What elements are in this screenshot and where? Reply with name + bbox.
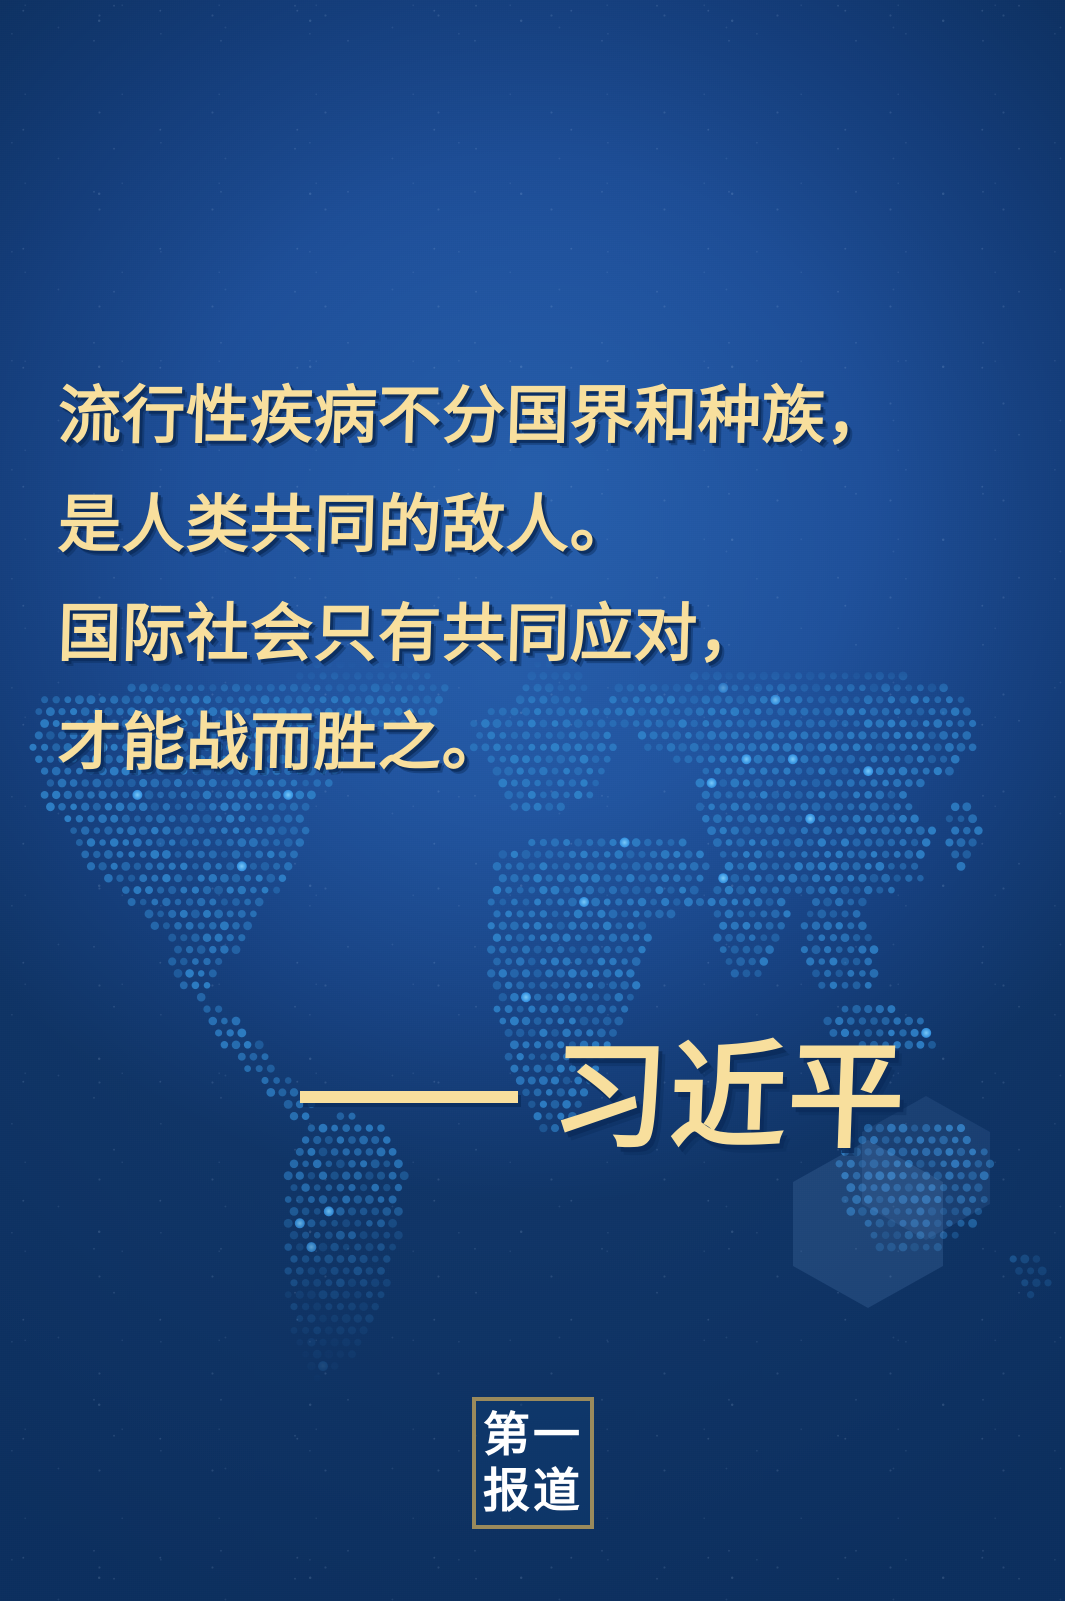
attribution-block: 习近平: [300, 1032, 1000, 1162]
quote-line-1: 流行性疾病不分国界和种族，: [57, 362, 1020, 471]
brand-logo-line-1: 第一: [483, 1408, 583, 1464]
quote-line-3: 国际社会只有共同应对，: [57, 580, 1020, 689]
quote-line-2: 是人类共同的敌人。: [57, 471, 1020, 580]
quote-block: 流行性疾病不分国界和种族， 是人类共同的敌人。 国际社会只有共同应对， 才能战而…: [58, 362, 1018, 798]
quote-line-4: 才能战而胜之。: [57, 689, 1020, 798]
attribution-dash: [300, 1091, 518, 1103]
brand-logo-line-2: 报道: [483, 1464, 583, 1520]
brand-logo[interactable]: 第一 报道: [472, 1397, 594, 1529]
poster-canvas: 流行性疾病不分国界和种族， 是人类共同的敌人。 国际社会只有共同应对， 才能战而…: [0, 0, 1065, 1601]
attribution-name: 习近平: [550, 1039, 908, 1155]
